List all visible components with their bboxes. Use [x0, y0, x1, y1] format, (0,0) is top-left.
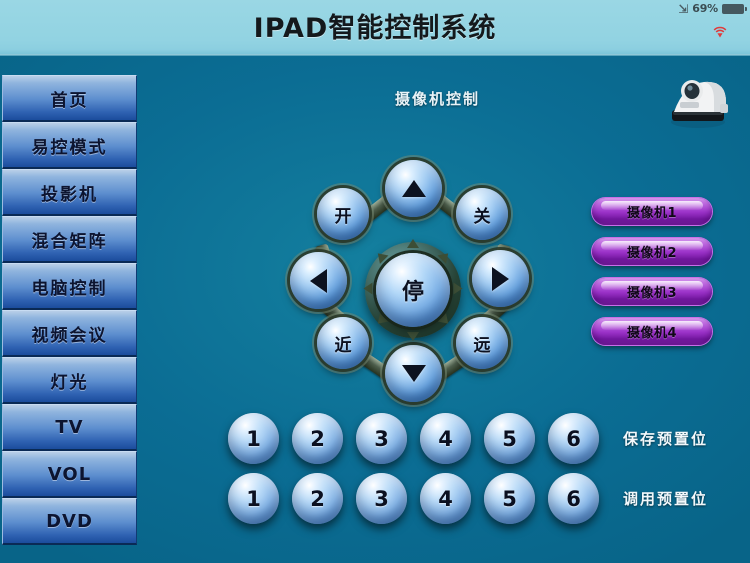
preset-save-row: 1 2 3 4 5 6 保存预置位	[228, 413, 708, 464]
camera-right-button[interactable]	[472, 250, 529, 307]
preset-number: 2	[310, 487, 325, 511]
preset-number: 1	[246, 427, 261, 451]
sidebar-item-label: TV	[55, 417, 83, 438]
preset-number: 5	[502, 487, 517, 511]
camera-select-label: 摄像机1	[627, 202, 677, 221]
preset-recall-4[interactable]: 4	[420, 473, 471, 524]
camera-down-button[interactable]	[385, 345, 442, 402]
arrow-up-icon	[402, 180, 426, 197]
page-title: 摄像机控制	[395, 88, 480, 109]
camera-select-2[interactable]: 摄像机2	[592, 238, 712, 265]
sidebar: 首页 易控模式 投影机 混合矩阵 电脑控制 视频会议 灯光 TV VOL DVD	[2, 75, 137, 545]
preset-save-3[interactable]: 3	[356, 413, 407, 464]
sidebar-item-lighting[interactable]: 灯光	[2, 357, 137, 404]
sidebar-item-dvd[interactable]: DVD	[2, 498, 137, 545]
sidebar-item-label: 首页	[51, 86, 89, 111]
sidebar-item-vol[interactable]: VOL	[2, 451, 137, 498]
preset-recall-row: 1 2 3 4 5 6 调用预置位	[228, 473, 708, 524]
preset-recall-1[interactable]: 1	[228, 473, 279, 524]
preset-save-label: 保存预置位	[623, 428, 708, 449]
sidebar-item-label: 灯光	[51, 368, 89, 393]
sidebar-item-label: 易控模式	[32, 133, 108, 158]
sidebar-item-home[interactable]: 首页	[2, 75, 137, 122]
preset-number: 4	[438, 427, 453, 451]
preset-recall-6[interactable]: 6	[548, 473, 599, 524]
sidebar-item-label: 电脑控制	[32, 274, 108, 299]
preset-recall-3[interactable]: 3	[356, 473, 407, 524]
camera-select-label: 摄像机3	[627, 282, 677, 301]
camera-select-label: 摄像机2	[627, 242, 677, 261]
preset-number: 3	[374, 487, 389, 511]
preset-save-6[interactable]: 6	[548, 413, 599, 464]
preset-save-1[interactable]: 1	[228, 413, 279, 464]
camera-select-3[interactable]: 摄像机3	[592, 278, 712, 305]
preset-save-5[interactable]: 5	[484, 413, 535, 464]
preset-number: 6	[566, 427, 581, 451]
camera-stop-button[interactable]: 停	[376, 253, 450, 327]
sidebar-item-matrix[interactable]: 混合矩阵	[2, 216, 137, 263]
sidebar-item-easy-mode[interactable]: 易控模式	[2, 122, 137, 169]
preset-number: 1	[246, 487, 261, 511]
camera-stop-label: 停	[402, 274, 424, 306]
preset-number: 4	[438, 487, 453, 511]
preset-number: 5	[502, 427, 517, 451]
spike-icon	[407, 332, 419, 341]
sidebar-item-label: DVD	[46, 511, 93, 532]
camera-open-button[interactable]: 开	[317, 188, 369, 240]
sidebar-item-label: 视频会议	[32, 321, 108, 346]
ipad-control-system-screen: ⇲ 69% IPAD智能控制系统 首页 易控模式 投影机 混合矩阵 电脑控制 视…	[0, 0, 750, 563]
camera-near-button[interactable]: 近	[317, 317, 369, 369]
preset-recall-label: 调用预置位	[623, 488, 708, 509]
preset-save-2[interactable]: 2	[292, 413, 343, 464]
sidebar-item-pc-control[interactable]: 电脑控制	[2, 263, 137, 310]
arrow-right-icon	[492, 267, 509, 291]
ptz-direction-pad: 开 关 近 远	[282, 160, 544, 400]
camera-far-button[interactable]: 远	[456, 317, 508, 369]
preset-save-4[interactable]: 4	[420, 413, 471, 464]
app-title: IPAD智能控制系统	[0, 6, 750, 45]
preset-recall-2[interactable]: 2	[292, 473, 343, 524]
camera-stop-wrap: 停	[365, 242, 461, 338]
spike-icon	[364, 283, 373, 295]
camera-select-4[interactable]: 摄像机4	[592, 318, 712, 345]
camera-left-button[interactable]	[290, 252, 347, 309]
preset-recall-5[interactable]: 5	[484, 473, 535, 524]
camera-near-label: 近	[335, 331, 352, 356]
sidebar-item-video-conference[interactable]: 视频会议	[2, 310, 137, 357]
spike-icon	[454, 283, 463, 295]
spike-icon	[407, 239, 419, 248]
camera-close-button[interactable]: 关	[456, 188, 508, 240]
camera-close-label: 关	[474, 202, 491, 227]
sidebar-item-label: 投影机	[41, 180, 98, 205]
camera-far-label: 远	[474, 331, 491, 356]
status-bar: ⇲ 69% IPAD智能控制系统	[0, 0, 750, 56]
sidebar-item-tv[interactable]: TV	[2, 404, 137, 451]
camera-open-label: 开	[335, 202, 352, 227]
arrow-left-icon	[310, 269, 327, 293]
ptz-camera-icon	[656, 62, 736, 132]
preset-number: 3	[374, 427, 389, 451]
camera-select-label: 摄像机4	[627, 322, 677, 341]
sidebar-item-label: VOL	[48, 464, 91, 485]
camera-up-button[interactable]	[385, 160, 442, 217]
sidebar-item-label: 混合矩阵	[32, 227, 108, 252]
camera-select-1[interactable]: 摄像机1	[592, 198, 712, 225]
sidebar-item-projector[interactable]: 投影机	[2, 169, 137, 216]
camera-select-list: 摄像机1 摄像机2 摄像机3 摄像机4	[592, 198, 712, 358]
preset-number: 2	[310, 427, 325, 451]
arrow-down-icon	[402, 365, 426, 382]
preset-number: 6	[566, 487, 581, 511]
